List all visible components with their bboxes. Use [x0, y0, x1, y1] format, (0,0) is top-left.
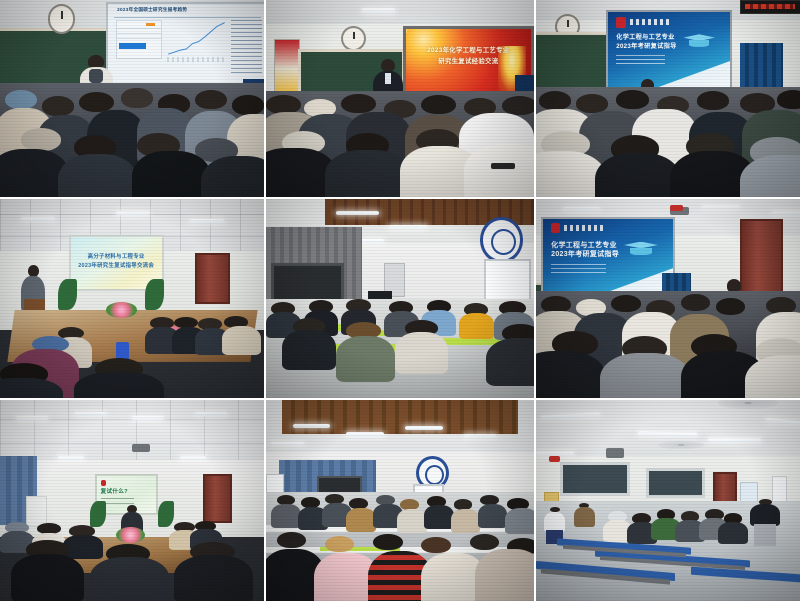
collage-photo-4[interactable]: 高分子材料与工程专业 2023年研究生复试指导交流会: [0, 199, 264, 398]
collage-photo-1[interactable]: 2023年全国硕士研究生报考趋势: [0, 0, 264, 197]
photo-collage: 2023年全国硕士研究生报考趋势: [0, 0, 800, 597]
collage-photo-7[interactable]: 复试什么?: [0, 400, 264, 601]
collage-photo-9[interactable]: [536, 400, 800, 601]
collage-photo-6[interactable]: 化学工程与工艺专业 2023年考研复试指导: [536, 199, 800, 398]
collage-photo-2[interactable]: 2023年化学工程与工艺专业 研究生复试经验交流: [266, 0, 534, 197]
collage-photo-3[interactable]: 化学工程与工艺专业 2023年考研复试指导: [536, 0, 800, 197]
collage-photo-5[interactable]: [266, 199, 534, 398]
collage-photo-8[interactable]: [266, 400, 534, 601]
